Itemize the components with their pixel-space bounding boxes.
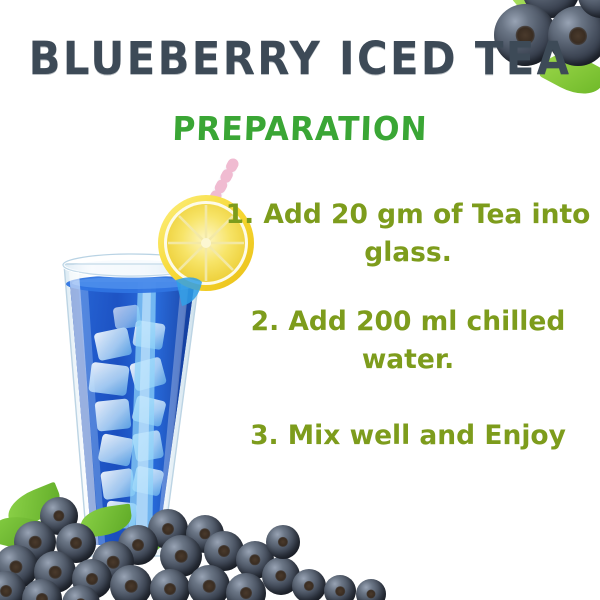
blueberry-icon (266, 525, 300, 559)
preparation-steps: 1. Add 20 gm of Tea into glass. 2. Add 2… (222, 196, 594, 454)
blueberry-pile-bottom (0, 485, 430, 600)
step-item: 3. Mix well and Enjoy (222, 417, 594, 455)
blueberry-icon (292, 569, 326, 600)
step-item: 1. Add 20 gm of Tea into glass. (222, 196, 594, 271)
blueberry-icon (324, 575, 356, 600)
blueberry-icon (110, 565, 152, 600)
blueberry-icon (188, 565, 230, 600)
step-item: 2. Add 200 ml chilled water. (222, 303, 594, 378)
blueberry-icon (356, 579, 386, 600)
recipe-poster: BLUEBERRY ICED TEA PREPARATION (0, 0, 600, 600)
